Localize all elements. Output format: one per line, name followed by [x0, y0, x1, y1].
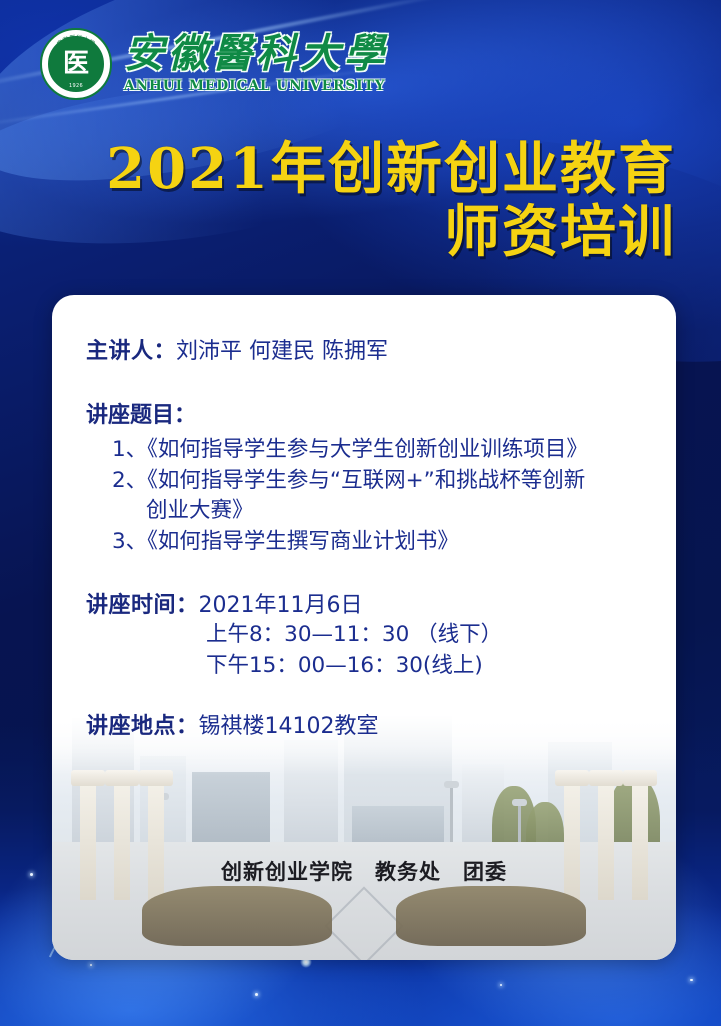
seal-glyph: 医: [63, 51, 89, 77]
speaker-label: 主讲人：: [86, 333, 176, 365]
time-morning-session: 上午8：30—11：30 （线下）: [86, 619, 642, 650]
speaker-row: 主讲人： 刘沛平 何建民 陈拥军: [86, 333, 642, 365]
star: [30, 873, 33, 876]
photo-hedge: [142, 886, 332, 946]
place-label: 讲座地点：: [86, 708, 199, 740]
topics-section: 讲座题目： 1、《如何指导学生参与大学生创新创业训练项目》 2、《如何指导学生参…: [86, 397, 642, 557]
topics-label: 讲座题目：: [86, 397, 642, 429]
seal-emblem: 医 1926: [48, 36, 104, 92]
info-card: 主讲人： 刘沛平 何建民 陈拥军 讲座题目： 1、《如何指导学生参与大学生创新创…: [52, 295, 676, 960]
university-seal-icon: 安徽医科大学 ANHUI MEDICAL UNIVERSITY 医 1926: [40, 28, 112, 100]
university-branding: 安徽医科大学 ANHUI MEDICAL UNIVERSITY 医 1926 安…: [40, 28, 388, 100]
organizers-footer: 创新创业学院 教务处 团委: [52, 856, 676, 886]
topic-item-2-continuation: 创业大赛》: [112, 496, 642, 527]
topic-item-2: 2、《如何指导学生参与“互联网+”和挑战杯等创新 创业大赛》: [86, 466, 642, 527]
time-section: 讲座时间： 2021年11月6日 上午8：30—11：30 （线下） 下午15：…: [86, 587, 642, 682]
poster-title: 2021年创新创业教育 师资培训: [52, 138, 676, 263]
time-label: 讲座时间：: [86, 587, 199, 619]
time-value: 2021年11月6日: [199, 587, 363, 619]
time-afternoon-session: 下午15：00—16：30(线上): [86, 650, 642, 681]
star: [500, 984, 502, 986]
topic-item-3: 3、《如何指导学生撰写商业计划书》: [86, 527, 642, 558]
campus-photo: [52, 715, 676, 960]
topic-item-1: 1、《如何指导学生参与大学生创新创业训练项目》: [86, 435, 642, 466]
photo-hedge: [396, 886, 586, 946]
star: [690, 979, 693, 982]
star: [255, 993, 258, 996]
seal-year: 1926: [50, 83, 102, 89]
poster-root: 安徽医科大学 ANHUI MEDICAL UNIVERSITY 医 1926 安…: [0, 0, 721, 1026]
info-card-body: 主讲人： 刘沛平 何建民 陈拥军 讲座题目： 1、《如何指导学生参与大学生创新创…: [52, 295, 676, 740]
topic-item-1-text: 1、《如何指导学生参与大学生创新创业训练项目》: [112, 437, 588, 462]
university-name-cn: 安徽醫科大學: [124, 34, 388, 74]
topic-item-3-text: 3、《如何指导学生撰写商业计划书》: [112, 529, 459, 554]
university-name-block: 安徽醫科大學 ANHUI MEDICAL UNIVERSITY: [124, 34, 388, 94]
poster-title-line1: 2021年创新创业教育: [52, 138, 676, 201]
place-value: 锡祺楼14102教室: [199, 708, 379, 740]
topic-item-2-text: 2、《如何指导学生参与“互联网+”和挑战杯等创新: [112, 468, 585, 493]
poster-title-line2: 师资培训: [52, 201, 676, 264]
star: [90, 964, 92, 966]
speaker-value: 刘沛平 何建民 陈拥军: [176, 333, 388, 365]
place-row: 讲座地点： 锡祺楼14102教室: [86, 708, 642, 740]
university-name-en: ANHUI MEDICAL UNIVERSITY: [124, 78, 388, 94]
time-row: 讲座时间： 2021年11月6日: [86, 587, 642, 619]
